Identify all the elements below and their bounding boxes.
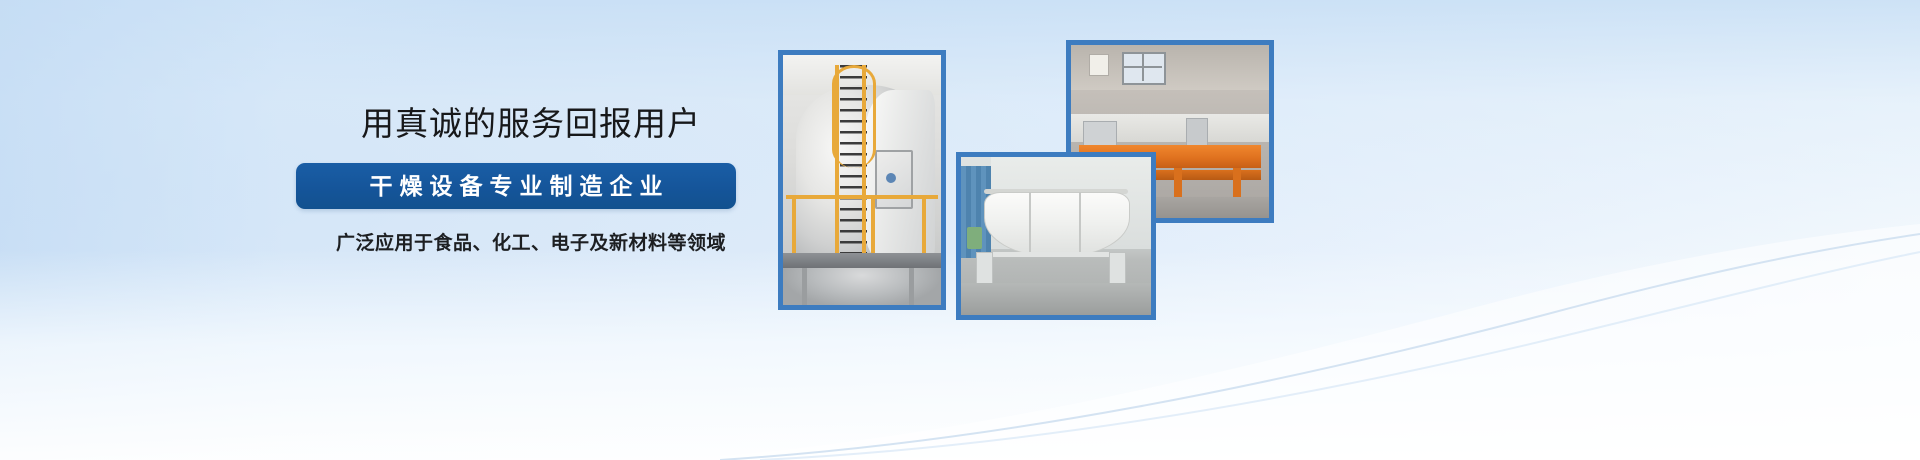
ribbon-mixer-image	[961, 157, 1151, 315]
promo-banner: 用真诚的服务回报用户 干燥设备专业制造企业 广泛应用于食品、化工、电子及新材料等…	[0, 0, 1920, 460]
photo-collage	[0, 0, 1920, 460]
spray-dryer-tower-image	[783, 55, 941, 305]
photo-card-ribbon-mixer	[956, 152, 1156, 320]
photo-card-spray-dryer-tower	[778, 50, 946, 310]
